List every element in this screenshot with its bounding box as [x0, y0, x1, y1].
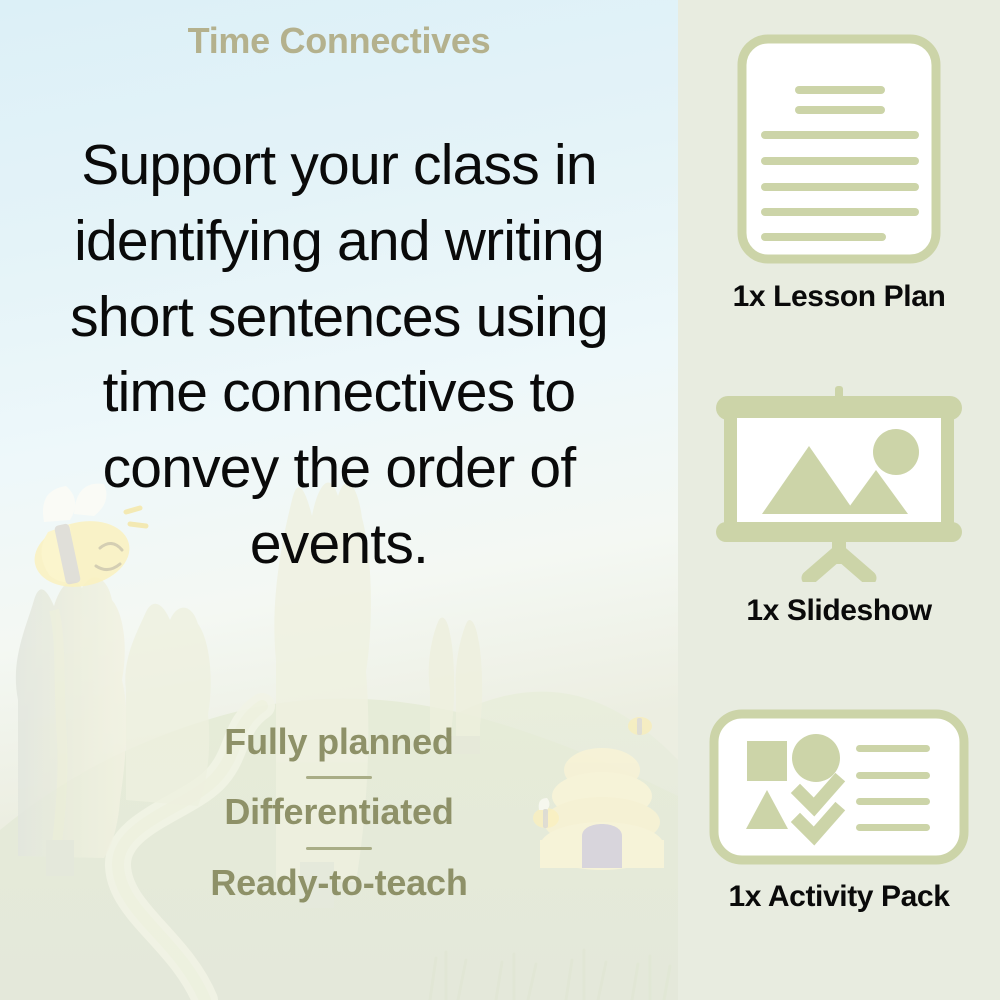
- feature-divider: [306, 847, 372, 850]
- feature-divider: [306, 776, 372, 779]
- resources-panel: 1x Lesson Plan: [678, 0, 1000, 1000]
- poster-canvas: Time Connectives Support your class in i…: [0, 0, 1000, 1000]
- left-content: Time Connectives Support your class in i…: [0, 0, 678, 1000]
- feature-item-ready-to-teach: Ready-to-teach: [0, 863, 678, 903]
- resource-item-activity-pack: 1x Activity Pack: [678, 706, 1000, 914]
- resource-label-lesson-plan: 1x Lesson Plan: [733, 280, 946, 314]
- feature-item-differentiated: Differentiated: [0, 792, 678, 832]
- feature-list: Fully planned Differentiated Ready-to-te…: [0, 722, 678, 903]
- left-panel: Time Connectives Support your class in i…: [0, 0, 678, 1000]
- page-title: Time Connectives: [0, 20, 678, 62]
- feature-item-fully-planned: Fully planned: [0, 722, 678, 762]
- lesson-plan-document-icon: [733, 30, 945, 268]
- resource-item-lesson-plan: 1x Lesson Plan: [678, 30, 1000, 314]
- resource-label-activity-pack: 1x Activity Pack: [729, 880, 950, 914]
- lead-description-text: Support your class in identifying and wr…: [44, 128, 634, 583]
- activity-pack-worksheet-icon: [706, 706, 972, 868]
- slideshow-projector-screen-icon: [704, 386, 974, 582]
- resource-label-slideshow: 1x Slideshow: [746, 594, 931, 628]
- resource-item-slideshow: 1x Slideshow: [678, 386, 1000, 628]
